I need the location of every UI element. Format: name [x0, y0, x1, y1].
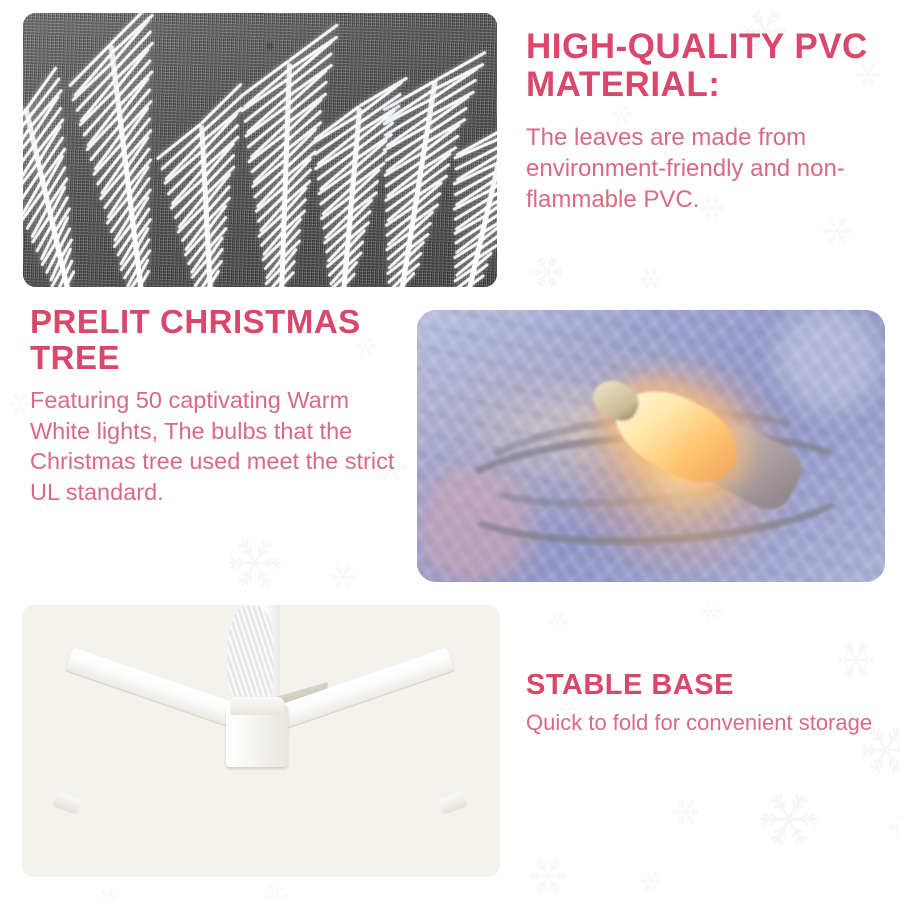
snowflake-icon	[700, 600, 722, 622]
pvc-material-text-block: HIGH-QUALITY PVC MATERIAL: The leaves ar…	[526, 28, 886, 215]
snowflake-icon	[262, 884, 288, 900]
snowflake-icon	[672, 798, 700, 826]
snowflake-icon	[528, 856, 568, 896]
stand-trunk-collar	[230, 697, 284, 715]
folding-tree-stand-photo	[22, 605, 500, 877]
pvc-material-heading: HIGH-QUALITY PVC MATERIAL:	[526, 28, 886, 104]
stable-base-body: Quick to fold for convenient storage	[526, 709, 891, 738]
snowflake-icon	[760, 790, 818, 848]
snowflake-icon	[640, 870, 662, 892]
snowflake-icon	[8, 392, 32, 416]
stand-foot-right	[438, 791, 468, 815]
white-pvc-branches-photo	[23, 13, 497, 287]
prelit-tree-heading: PRELIT CHRISTMAS TREE	[30, 304, 415, 375]
prelit-tree-body: Featuring 50 captivating Warm White ligh…	[30, 385, 415, 507]
snowflake-icon	[330, 564, 356, 590]
snowflake-icon	[548, 612, 568, 632]
stable-base-heading: STABLE BASE	[526, 670, 891, 701]
prelit-tree-text-block: PRELIT CHRISTMAS TREE Featuring 50 capti…	[30, 304, 415, 507]
snowflake-icon	[822, 216, 852, 246]
stand-foot-left	[52, 791, 82, 815]
snowflake-icon	[228, 536, 282, 590]
pvc-material-body: The leaves are made from environment-fri…	[526, 122, 886, 216]
snowflake-icon	[640, 268, 662, 290]
snowflake-icon	[96, 888, 118, 900]
stable-base-text-block: STABLE BASE Quick to fold for convenient…	[526, 670, 891, 738]
snowflake-icon	[890, 812, 900, 842]
infographic-canvas: HIGH-QUALITY PVC MATERIAL: The leaves ar…	[0, 0, 900, 900]
snowflake-icon	[530, 255, 564, 289]
warm-white-bulb-photo	[417, 310, 885, 582]
